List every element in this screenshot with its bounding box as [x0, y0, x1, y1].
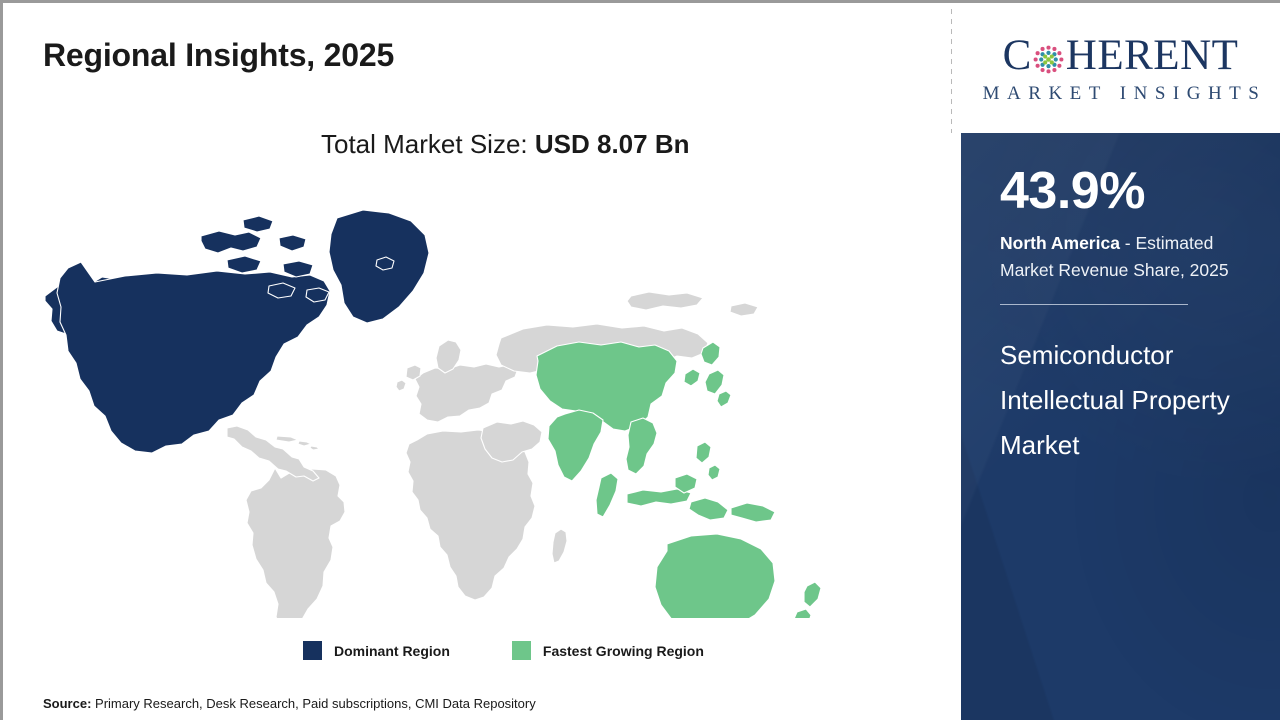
market-size-label: Total Market Size: — [321, 129, 528, 159]
legend-item-dominant: Dominant Region — [303, 641, 450, 660]
map-region-asia-pacific — [536, 342, 821, 618]
legend-swatch-dominant-icon — [303, 641, 322, 660]
stat-percentage: 43.9% — [1000, 165, 1261, 217]
source-note: Source: Primary Research, Desk Research,… — [43, 696, 536, 711]
legend-label-dominant: Dominant Region — [334, 643, 450, 659]
legend-swatch-fastest-growing-icon — [512, 641, 531, 660]
stat-region-name: North America — [1000, 233, 1120, 253]
stat-panel: 43.9% North America - Estimated Market R… — [961, 133, 1280, 720]
company-logo: C — [961, 6, 1280, 133]
source-text: Primary Research, Desk Research, Paid su… — [91, 696, 535, 711]
legend-item-fastest-growing: Fastest Growing Region — [512, 641, 704, 660]
stat-panel-content: 43.9% North America - Estimated Market R… — [1000, 165, 1261, 467]
panel-divider-rule — [1000, 304, 1188, 305]
logo-letter-c: C — [1003, 34, 1032, 77]
stat-description: North America - Estimated Market Revenue… — [1000, 230, 1261, 283]
vertical-divider — [951, 9, 952, 133]
legend-label-fastest-growing: Fastest Growing Region — [543, 643, 704, 659]
market-name: Semiconductor Intellectual Property Mark… — [1000, 333, 1261, 467]
map-legend: Dominant Region Fastest Growing Region — [303, 641, 704, 660]
logo-tagline: MARKET INSIGHTS — [975, 83, 1267, 105]
total-market-size: Total Market Size: USD 8.07 Bn — [321, 129, 689, 160]
logo-text-coherent: HERENT — [1066, 34, 1239, 77]
logo-wordmark: C — [1003, 34, 1239, 77]
market-size-value: USD 8.07 Bn — [535, 129, 690, 159]
globe-dots-icon — [1032, 41, 1065, 74]
map-region-north-america — [45, 210, 429, 453]
world-map — [31, 178, 931, 618]
source-label: Source: — [43, 696, 91, 711]
page-title: Regional Insights, 2025 — [43, 37, 394, 74]
infographic-canvas: Regional Insights, 2025 Total Market Siz… — [0, 0, 1280, 720]
